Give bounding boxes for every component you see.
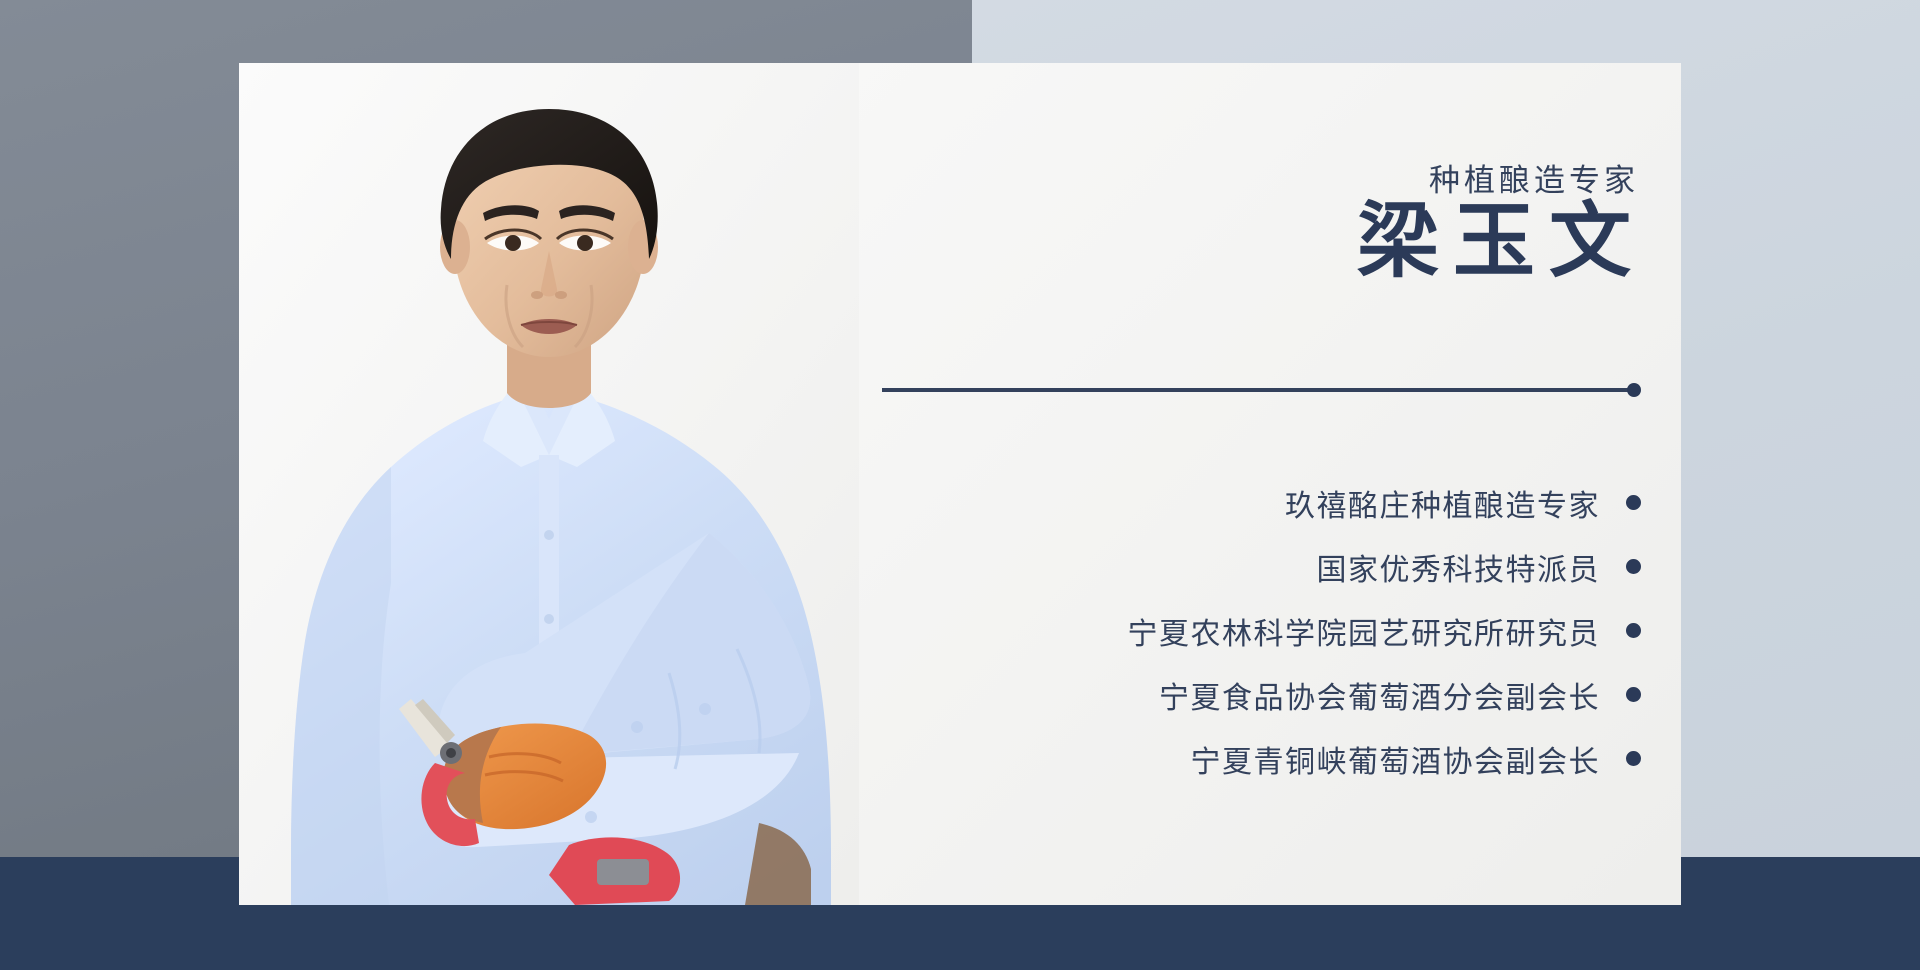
list-item: 宁夏食品协会葡萄酒分会副会长: [1128, 667, 1642, 722]
divider-rule: [882, 383, 1641, 397]
divider-line: [882, 388, 1632, 392]
expert-portrait-photo: [239, 63, 859, 905]
expert-role-eyebrow: 种植酿造专家: [1429, 155, 1639, 200]
poster-canvas: 种植酿造专家 梁玉文 玖禧酩庄种植酿造专家 国家优秀科技特派员 宁夏农林科学院园…: [0, 0, 1920, 970]
credentials-list: 玖禧酩庄种植酿造专家 国家优秀科技特派员 宁夏农林科学院园艺研究所研究员 宁夏食…: [1128, 475, 1642, 795]
list-item: 宁夏农林科学院园艺研究所研究员: [1128, 603, 1642, 658]
credential-text: 宁夏食品协会葡萄酒分会副会长: [1159, 673, 1600, 717]
credential-text: 宁夏青铜峡葡萄酒协会副会长: [1191, 737, 1601, 781]
bullet-dot-icon: [1626, 751, 1641, 766]
list-item: 国家优秀科技特派员: [1128, 539, 1642, 594]
bullet-dot-icon: [1626, 559, 1641, 574]
profile-info-column: 种植酿造专家 梁玉文 玖禧酩庄种植酿造专家 国家优秀科技特派员 宁夏农林科学院园…: [799, 63, 1681, 905]
divider-end-dot-icon: [1627, 383, 1641, 397]
expert-name: 梁玉文: [1357, 195, 1645, 289]
credential-text: 宁夏农林科学院园艺研究所研究员: [1128, 609, 1601, 653]
bullet-dot-icon: [1626, 687, 1641, 702]
bullet-dot-icon: [1626, 623, 1641, 638]
credential-text: 国家优秀科技特派员: [1317, 545, 1601, 589]
list-item: 宁夏青铜峡葡萄酒协会副会长: [1128, 731, 1642, 786]
list-item: 玖禧酩庄种植酿造专家: [1128, 475, 1642, 530]
credential-text: 玖禧酩庄种植酿造专家: [1285, 481, 1600, 525]
profile-card: 种植酿造专家 梁玉文 玖禧酩庄种植酿造专家 国家优秀科技特派员 宁夏农林科学院园…: [239, 63, 1681, 905]
bullet-dot-icon: [1626, 495, 1641, 510]
